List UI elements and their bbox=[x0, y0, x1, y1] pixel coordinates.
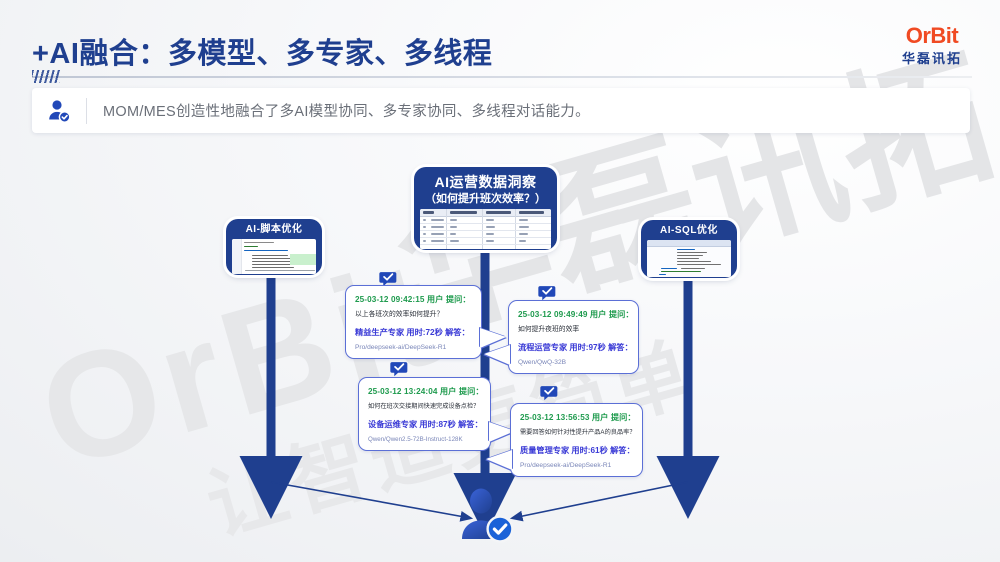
bubble-question-header: 25-03-12 09:42:15 用户 提问： bbox=[355, 293, 472, 305]
node-ai-sql-optimization[interactable]: AI-SQL优化 bbox=[641, 220, 737, 278]
converge-right bbox=[513, 482, 688, 518]
data-table-screenshot bbox=[420, 209, 551, 249]
bubble-question-header: 25-03-12 13:56:53 用户 提问： bbox=[520, 411, 633, 423]
bubble-lean-production[interactable]: 25-03-12 09:42:15 用户 提问： 以上各班次的效率如何提升？ 精… bbox=[345, 285, 482, 359]
bubble-tail bbox=[486, 450, 512, 470]
bubble-answer-header: 精益生产专家 用时:72秒 解答： bbox=[355, 326, 472, 338]
bubble-quality-management[interactable]: 25-03-12 13:56:53 用户 提问： 需要回答如何针对性提升产品A的… bbox=[510, 403, 643, 477]
flow-diagram: AI-脚本优化 AI运营数据洞察 （如何提升班次效率？） bbox=[0, 0, 1000, 562]
chat-message-icon bbox=[390, 361, 410, 378]
bubble-model-name: Pro/deepseek-ai/DeepSeek-R1 bbox=[520, 462, 633, 469]
node-title: AI-SQL优化 bbox=[647, 225, 731, 237]
bubble-model-name: Pro/deepseek-ai/DeepSeek-R1 bbox=[355, 344, 472, 351]
node-ai-operations-data-insight[interactable]: AI运营数据洞察 （如何提升班次效率？） bbox=[414, 167, 557, 250]
bubble-equipment-maintenance[interactable]: 25-03-12 13:24:04 用户 提问： 如何在班次交接期间快速完成设备… bbox=[358, 377, 491, 451]
chat-message-icon bbox=[540, 385, 560, 402]
bubble-question-body: 以上各班次的效率如何提升？ bbox=[355, 311, 472, 319]
user-hub-icon[interactable] bbox=[455, 484, 517, 546]
bubble-answer-header: 设备运维专家 用时:87秒 解答： bbox=[368, 418, 481, 430]
bubble-question-header: 25-03-12 09:49:49 用户 提问： bbox=[518, 308, 629, 320]
converge-left bbox=[271, 482, 470, 518]
bubble-question-body: 需要回答如何针对性提升产品A的良品率？ bbox=[520, 429, 633, 437]
bubble-question-body: 如何在班次交接期间快速完成设备点检？ bbox=[368, 403, 481, 411]
slide-canvas: OrBit 华磊讯拓 让智造更简单 +AI融合：多模型、多专家、多线程 OrBi… bbox=[0, 0, 1000, 562]
sql-window-screenshot bbox=[647, 240, 731, 277]
node-title: AI运营数据洞察 bbox=[420, 174, 551, 191]
flow-connectors bbox=[0, 0, 1000, 562]
bubble-tail bbox=[484, 345, 510, 365]
bubble-model-name: Qwen/QwQ-32B bbox=[518, 359, 629, 366]
bubble-answer-header: 质量管理专家 用时:61秒 解答： bbox=[520, 444, 633, 456]
code-editor-screenshot bbox=[232, 239, 316, 274]
node-ai-script-optimization[interactable]: AI-脚本优化 bbox=[226, 219, 322, 275]
node-title: AI-脚本优化 bbox=[232, 224, 316, 236]
bubble-question-header: 25-03-12 13:24:04 用户 提问： bbox=[368, 385, 481, 397]
bubble-model-name: Qwen/Qwen2.5-72B-Instruct-128K bbox=[368, 436, 481, 443]
bubble-process-operations[interactable]: 25-03-12 09:49:49 用户 提问： 如何提升夜班的效率 流程运营专… bbox=[508, 300, 639, 374]
node-subtitle: （如何提升班次效率？） bbox=[420, 193, 551, 206]
bubble-answer-header: 流程运营专家 用时:97秒 解答： bbox=[518, 341, 629, 353]
bubble-question-body: 如何提升夜班的效率 bbox=[518, 326, 629, 334]
